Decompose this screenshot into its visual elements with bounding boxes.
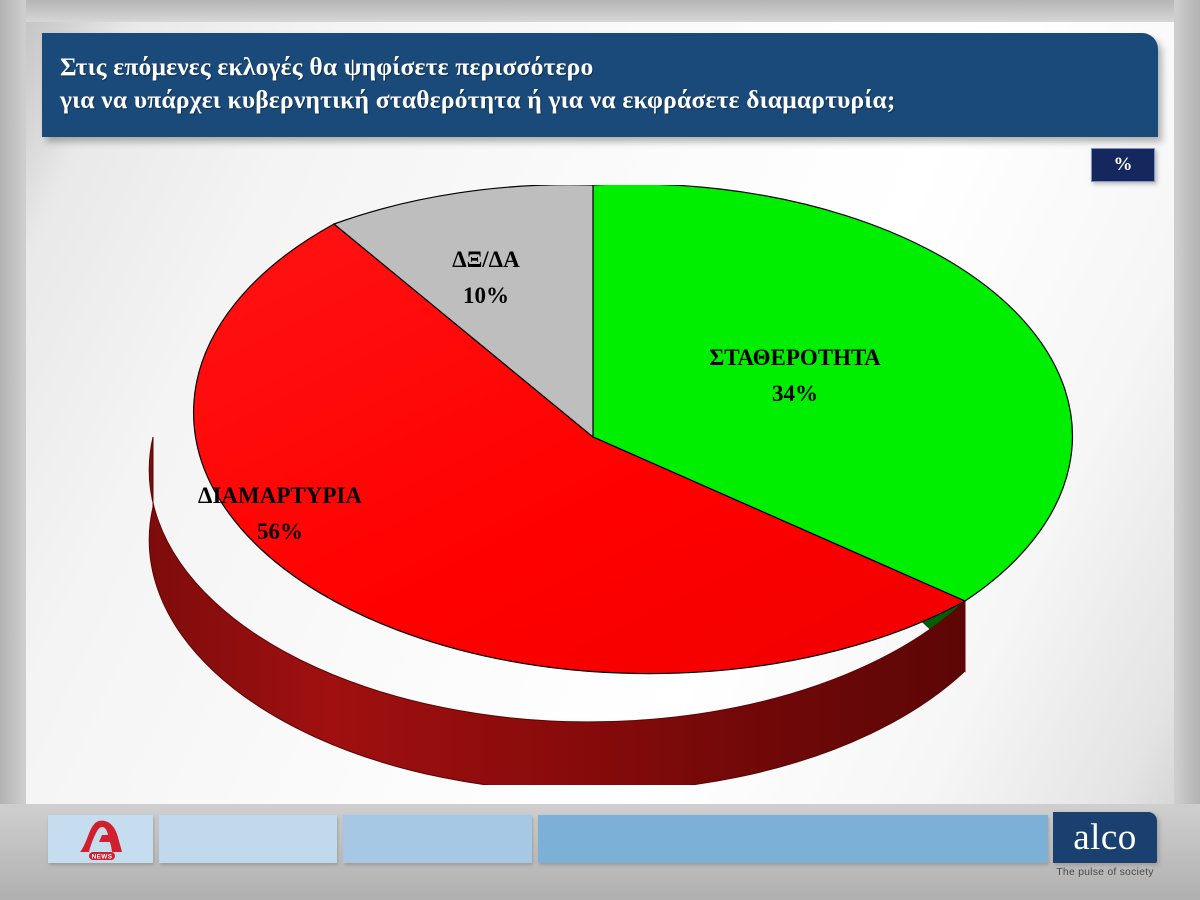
alco-logo-tagline: The pulse of society	[1053, 866, 1157, 878]
slide-canvas: Στις επόμενες εκλογές θα ψηφίσετε περισσ…	[0, 0, 1200, 900]
footer-bar-1: NEWS	[48, 815, 153, 863]
slide-frame-left	[0, 0, 26, 900]
page-title: Στις επόμενες εκλογές θα ψηφίσετε περισσ…	[60, 50, 1158, 116]
footer-bar-4	[538, 815, 1048, 863]
percent-unit-badge: %	[1091, 148, 1155, 182]
slice-label-dk-na-value: 10%	[463, 283, 509, 308]
alco-logo-box: alco	[1053, 812, 1157, 863]
slice-label-dk-na-name: ΔΞ/ΔΑ	[452, 247, 520, 272]
slide-frame-top	[0, 0, 1200, 22]
alpha-news-logo-icon: NEWS	[76, 819, 128, 861]
footer-bar-strip: NEWS	[48, 815, 1048, 863]
alco-logo: alco The pulse of society	[1053, 812, 1157, 882]
pie-chart: ΣΤΑΘΕΡΟΤΗΤΑ 34% ΔΙΑΜΑΡΤΥΡΙΑ 56% ΔΞ/ΔΑ 10…	[120, 185, 1080, 785]
footer-bar-2	[159, 815, 337, 863]
pie-chart-svg: ΣΤΑΘΕΡΟΤΗΤΑ 34% ΔΙΑΜΑΡΤΥΡΙΑ 56% ΔΞ/ΔΑ 10…	[120, 185, 1080, 785]
title-banner: Στις επόμενες εκλογές θα ψηφίσετε περισσ…	[42, 33, 1158, 137]
footer-bar-3	[343, 815, 533, 863]
slide-frame-right	[1174, 0, 1200, 900]
slice-label-protest-name: ΔΙΑΜΑΡΤΥΡΙΑ	[198, 483, 362, 508]
percent-unit-label: %	[1114, 154, 1133, 176]
alpha-news-logo-text: NEWS	[92, 854, 113, 861]
alco-logo-wordmark: alco	[1073, 819, 1137, 856]
slice-label-stability-name: ΣΤΑΘΕΡΟΤΗΤΑ	[709, 345, 881, 370]
pie-top-faces	[194, 185, 1073, 674]
slice-label-stability-value: 34%	[772, 381, 818, 406]
slice-label-protest-value: 56%	[257, 519, 303, 544]
